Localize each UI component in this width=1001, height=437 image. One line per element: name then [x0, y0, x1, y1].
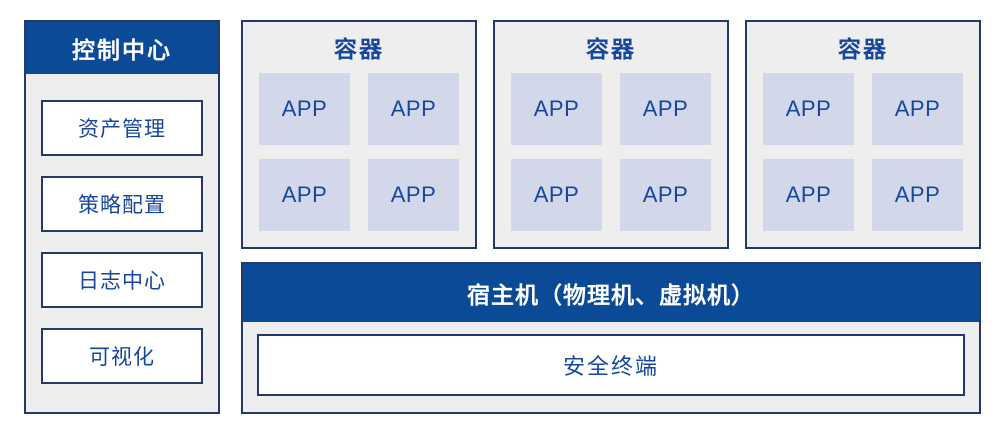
app-box[interactable]: APP	[763, 73, 854, 145]
app-grid-3: APP APP APP APP	[747, 69, 979, 247]
control-center-item-asset-management[interactable]: 资产管理	[41, 100, 203, 156]
control-center-item-visualization[interactable]: 可视化	[41, 328, 203, 384]
app-box[interactable]: APP	[872, 159, 963, 231]
app-box[interactable]: APP	[368, 73, 459, 145]
control-center-item-list: 资产管理 策略配置 日志中心 可视化	[26, 74, 218, 412]
app-box[interactable]: APP	[620, 73, 711, 145]
app-grid-1: APP APP APP APP	[243, 69, 475, 247]
app-box[interactable]: APP	[511, 73, 602, 145]
container-title-2: 容器	[586, 38, 636, 61]
app-box[interactable]: APP	[872, 73, 963, 145]
app-box[interactable]: APP	[368, 159, 459, 231]
app-box[interactable]: APP	[259, 159, 350, 231]
host-body: 安全终端	[243, 322, 979, 412]
container-title-3: 容器	[838, 38, 888, 61]
host-title: 宿主机（物理机、虚拟机）	[243, 264, 979, 322]
control-center-title: 控制中心	[26, 22, 218, 74]
container-panel-1: 容器 APP APP APP APP	[241, 20, 477, 249]
app-box[interactable]: APP	[511, 159, 602, 231]
control-center-item-policy-config[interactable]: 策略配置	[41, 176, 203, 232]
container-panel-3: 容器 APP APP APP APP	[745, 20, 981, 249]
architecture-diagram: 控制中心 资产管理 策略配置 日志中心 可视化 容器 APP APP APP A…	[0, 0, 1001, 437]
security-terminal-box[interactable]: 安全终端	[257, 334, 965, 396]
app-box[interactable]: APP	[620, 159, 711, 231]
container-panel-2: 容器 APP APP APP APP	[493, 20, 729, 249]
host-panel: 宿主机（物理机、虚拟机） 安全终端	[241, 262, 981, 414]
app-box[interactable]: APP	[259, 73, 350, 145]
right-stack: 容器 APP APP APP APP 容器 APP APP APP APP	[241, 20, 981, 414]
control-center-panel: 控制中心 资产管理 策略配置 日志中心 可视化	[24, 20, 220, 414]
app-grid-2: APP APP APP APP	[495, 69, 727, 247]
app-box[interactable]: APP	[763, 159, 854, 231]
control-center-item-log-center[interactable]: 日志中心	[41, 252, 203, 308]
containers-row: 容器 APP APP APP APP 容器 APP APP APP APP	[241, 20, 981, 249]
container-title-1: 容器	[334, 38, 384, 61]
